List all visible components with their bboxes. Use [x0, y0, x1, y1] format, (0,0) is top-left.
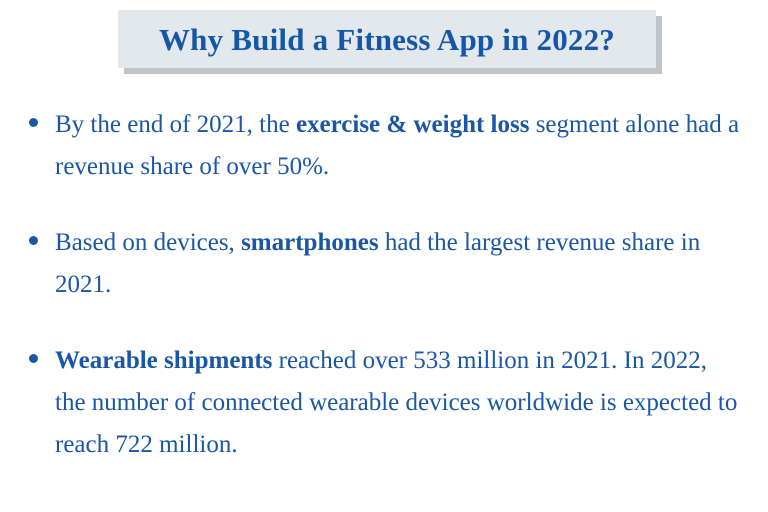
slide-title-banner: Why Build a Fitness App in 2022?	[118, 10, 656, 68]
bullet-disc-icon	[29, 354, 38, 363]
list-item-text-run-bold: smartphones	[241, 229, 379, 256]
bullet-disc-icon	[29, 236, 38, 245]
list-item-text: Wearable shipments reached over 533 mill…	[55, 340, 740, 466]
list-item-text-run-bold: exercise & weight loss	[296, 111, 530, 138]
list-item-text-run: Based on devices,	[55, 229, 241, 256]
list-item: By the end of 2021, the exercise & weigh…	[0, 104, 768, 188]
bullet-disc-icon	[29, 118, 38, 127]
title-banner-box: Why Build a Fitness App in 2022?	[118, 10, 656, 68]
list-item: Based on devices, smartphones had the la…	[0, 222, 768, 306]
bullet-list: By the end of 2021, the exercise & weigh…	[0, 104, 768, 466]
page-title: Why Build a Fitness App in 2022?	[159, 24, 615, 55]
list-item-text: By the end of 2021, the exercise & weigh…	[55, 104, 740, 188]
list-item-text-run-bold: Wearable shipments	[55, 347, 272, 374]
list-item: Wearable shipments reached over 533 mill…	[0, 340, 768, 466]
list-item-text: Based on devices, smartphones had the la…	[55, 222, 740, 306]
list-item-text-run: By the end of 2021, the	[55, 111, 296, 138]
